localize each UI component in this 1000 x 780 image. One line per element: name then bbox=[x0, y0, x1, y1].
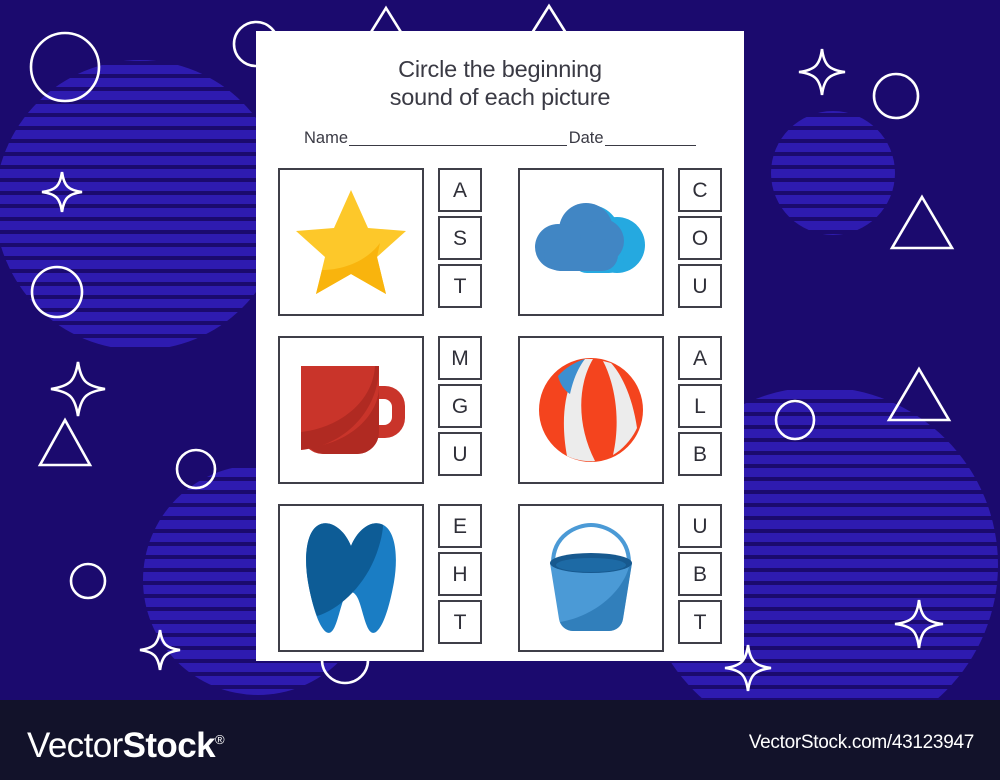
date-input[interactable] bbox=[605, 132, 696, 146]
picture-box-tooth bbox=[278, 504, 424, 652]
letter-option[interactable]: T bbox=[438, 264, 482, 308]
exercise-item-1: A S T bbox=[270, 168, 490, 316]
letter-option[interactable]: H bbox=[438, 552, 482, 596]
tooth-icon bbox=[304, 520, 398, 636]
picture-box-star bbox=[278, 168, 424, 316]
striped-circle-top-right bbox=[771, 111, 895, 235]
star-icon bbox=[294, 186, 408, 298]
page-title: Circle the beginning sound of each pictu… bbox=[256, 55, 744, 111]
letter-option[interactable]: E bbox=[438, 504, 482, 548]
vectorstock-url: VectorStock.com/43123947 bbox=[749, 733, 974, 753]
exercise-item-6: U B T bbox=[510, 504, 730, 652]
letter-option[interactable]: S bbox=[438, 216, 482, 260]
letter-option[interactable]: L bbox=[678, 384, 722, 428]
letter-choices-2: C O U bbox=[678, 168, 722, 308]
exercise-item-4: A L B bbox=[510, 336, 730, 484]
picture-box-cloud bbox=[518, 168, 664, 316]
mug-icon bbox=[295, 360, 407, 460]
letter-option[interactable]: T bbox=[438, 600, 482, 644]
letter-option[interactable]: O bbox=[678, 216, 722, 260]
letter-option[interactable]: U bbox=[678, 504, 722, 548]
letter-choices-3: M G U bbox=[438, 336, 482, 476]
name-input[interactable] bbox=[349, 132, 567, 146]
letter-option[interactable]: U bbox=[438, 432, 482, 476]
exercise-item-3: M G U bbox=[270, 336, 490, 484]
vectorstock-logo: VectorStock® bbox=[27, 722, 224, 764]
striped-circle-top-left bbox=[0, 60, 285, 350]
letter-choices-5: E H T bbox=[438, 504, 482, 644]
letter-option[interactable]: A bbox=[678, 336, 722, 380]
ball-icon bbox=[537, 356, 645, 464]
letter-option[interactable]: G bbox=[438, 384, 482, 428]
exercise-item-2: C O U bbox=[510, 168, 730, 316]
letter-choices-1: A S T bbox=[438, 168, 482, 308]
picture-box-mug bbox=[278, 336, 424, 484]
page-title-line-1: Circle the beginning bbox=[256, 55, 744, 83]
logo-text-thin: Vector bbox=[27, 726, 123, 765]
letter-choices-4: A L B bbox=[678, 336, 722, 476]
page-title-line-2: sound of each picture bbox=[256, 83, 744, 111]
name-date-row: Name Date bbox=[304, 130, 696, 147]
letter-option[interactable]: B bbox=[678, 552, 722, 596]
letter-option[interactable]: U bbox=[678, 264, 722, 308]
bucket-icon bbox=[537, 523, 645, 633]
name-label: Name bbox=[304, 130, 348, 147]
letter-option[interactable]: T bbox=[678, 600, 722, 644]
cloud-icon bbox=[532, 197, 650, 287]
letter-option[interactable]: M bbox=[438, 336, 482, 380]
picture-box-bucket bbox=[518, 504, 664, 652]
picture-box-ball bbox=[518, 336, 664, 484]
letter-option[interactable]: C bbox=[678, 168, 722, 212]
date-label: Date bbox=[569, 130, 604, 147]
registered-trademark-icon: ® bbox=[215, 732, 224, 747]
letter-option[interactable]: A bbox=[438, 168, 482, 212]
exercise-grid: A S T bbox=[270, 168, 730, 652]
exercise-item-5: E H T bbox=[270, 504, 490, 652]
logo-text-bold: Stock bbox=[123, 726, 215, 765]
worksheet-card: Circle the beginning sound of each pictu… bbox=[256, 31, 744, 661]
watermark-footer: VectorStock® VectorStock.com/43123947 bbox=[0, 700, 1000, 780]
letter-option[interactable]: B bbox=[678, 432, 722, 476]
letter-choices-6: U B T bbox=[678, 504, 722, 644]
